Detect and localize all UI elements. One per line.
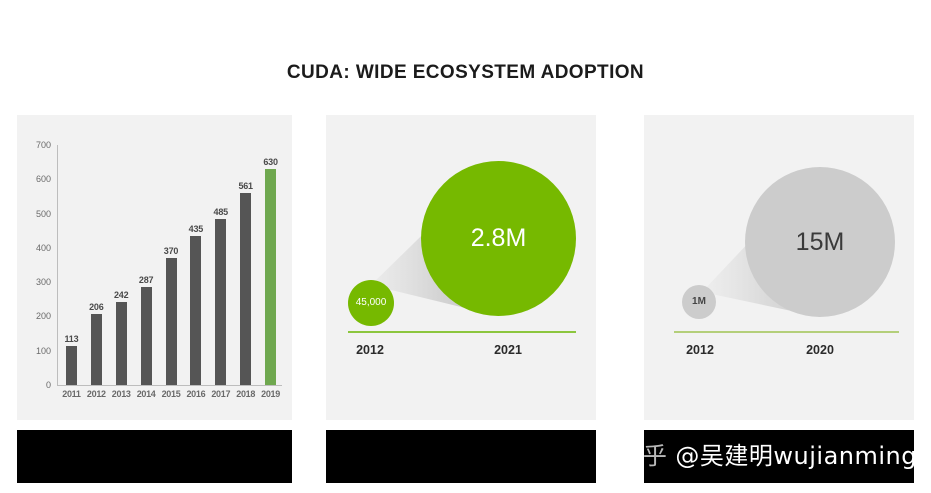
bar-group[interactable]: 370 (159, 246, 183, 385)
y-axis-tick: 700 (25, 140, 51, 150)
bar-group[interactable]: 206 (84, 302, 108, 385)
bubble-downloads-end-label: 15M (796, 230, 845, 255)
bubble-stage-developers: 45,000 2.8M 2012 2021 (326, 115, 596, 420)
bubble-developers-end-label: 2.8M (471, 226, 527, 251)
bar-chart-panel: 7006005004003002001000 11320624228737043… (17, 115, 292, 420)
bar-value-label: 435 (184, 224, 208, 234)
y-axis-tick: 400 (25, 243, 51, 253)
bar-group[interactable]: 630 (259, 157, 283, 385)
bar[interactable] (141, 287, 152, 385)
bubble-developers-end: 2.8M (421, 161, 576, 316)
page-title: CUDA: WIDE ECOSYSTEM ADOPTION (0, 62, 931, 84)
y-axis-tick: 0 (25, 380, 51, 390)
bar-group[interactable]: 435 (184, 224, 208, 385)
downloads-bubble-panel: 1M 15M 2012 2020 (644, 115, 914, 420)
bubble-developers-start-label: 45,000 (356, 298, 387, 308)
redaction-bar (17, 430, 292, 483)
bubble-stage-downloads: 1M 15M 2012 2020 (644, 115, 914, 420)
bar-group[interactable]: 287 (134, 275, 158, 385)
bubble-downloads-start: 1M (682, 285, 716, 319)
bar-value-label: 113 (59, 334, 83, 344)
x-axis-tick: 2019 (259, 389, 283, 399)
x-axis-line (57, 385, 282, 386)
x-axis-tick: 2015 (159, 389, 183, 399)
baseline-developers (348, 331, 576, 333)
baseline-downloads (674, 331, 899, 333)
y-axis-tick: 200 (25, 311, 51, 321)
bar-group[interactable]: 485 (209, 207, 233, 385)
bar[interactable] (265, 169, 276, 385)
zhihu-logo: 知乎 (618, 442, 667, 470)
bar[interactable] (91, 314, 102, 385)
bar-value-label: 370 (159, 246, 183, 256)
x-axis-tick: 2016 (184, 389, 208, 399)
x-axis-tick: 2014 (134, 389, 158, 399)
watermark-handle: @吴建明wujianming (675, 442, 917, 470)
y-axis-tick: 500 (25, 209, 51, 219)
bar-value-label: 630 (259, 157, 283, 167)
year-label-downloads-start: 2012 (660, 343, 740, 357)
year-label-downloads-end: 2020 (780, 343, 860, 357)
bar-value-label: 242 (109, 290, 133, 300)
year-label-developers-end: 2021 (468, 343, 548, 357)
bar-value-label: 561 (234, 181, 258, 191)
bubble-downloads-end: 15M (745, 167, 895, 317)
bar[interactable] (66, 346, 77, 385)
y-axis-tick: 600 (25, 174, 51, 184)
bubble-developers-start: 45,000 (348, 280, 394, 326)
bar-value-label: 485 (209, 207, 233, 217)
redaction-bar (326, 430, 596, 483)
bar[interactable] (240, 193, 251, 385)
y-axis-tick: 300 (25, 277, 51, 287)
bar-value-label: 287 (134, 275, 158, 285)
bar-group[interactable]: 113 (59, 334, 83, 385)
y-axis-tick: 100 (25, 346, 51, 356)
bar-group[interactable]: 561 (234, 181, 258, 385)
bar-group[interactable]: 242 (109, 290, 133, 385)
watermark: 知乎@吴建明wujianming (618, 436, 917, 471)
y-axis-line (57, 145, 58, 385)
bar[interactable] (190, 236, 201, 385)
bar[interactable] (116, 302, 127, 385)
bar-value-label: 206 (84, 302, 108, 312)
y-axis: 7006005004003002001000 (25, 115, 51, 420)
x-axis-tick: 2012 (84, 389, 108, 399)
x-axis-tick: 2013 (109, 389, 133, 399)
year-label-developers-start: 2012 (330, 343, 410, 357)
x-axis-tick: 2017 (209, 389, 233, 399)
bubble-downloads-start-label: 1M (692, 297, 706, 307)
bars-layer: 113206242287370435485561630 (59, 145, 283, 385)
x-axis-tick: 2018 (234, 389, 258, 399)
x-axis-tick: 2011 (59, 389, 83, 399)
bar[interactable] (166, 258, 177, 385)
bar-chart: 7006005004003002001000 11320624228737043… (17, 115, 292, 420)
developers-bubble-panel: 45,000 2.8M 2012 2021 (326, 115, 596, 420)
x-axis: 201120122013201420152016201720182019 (59, 389, 283, 405)
bar[interactable] (215, 219, 226, 385)
